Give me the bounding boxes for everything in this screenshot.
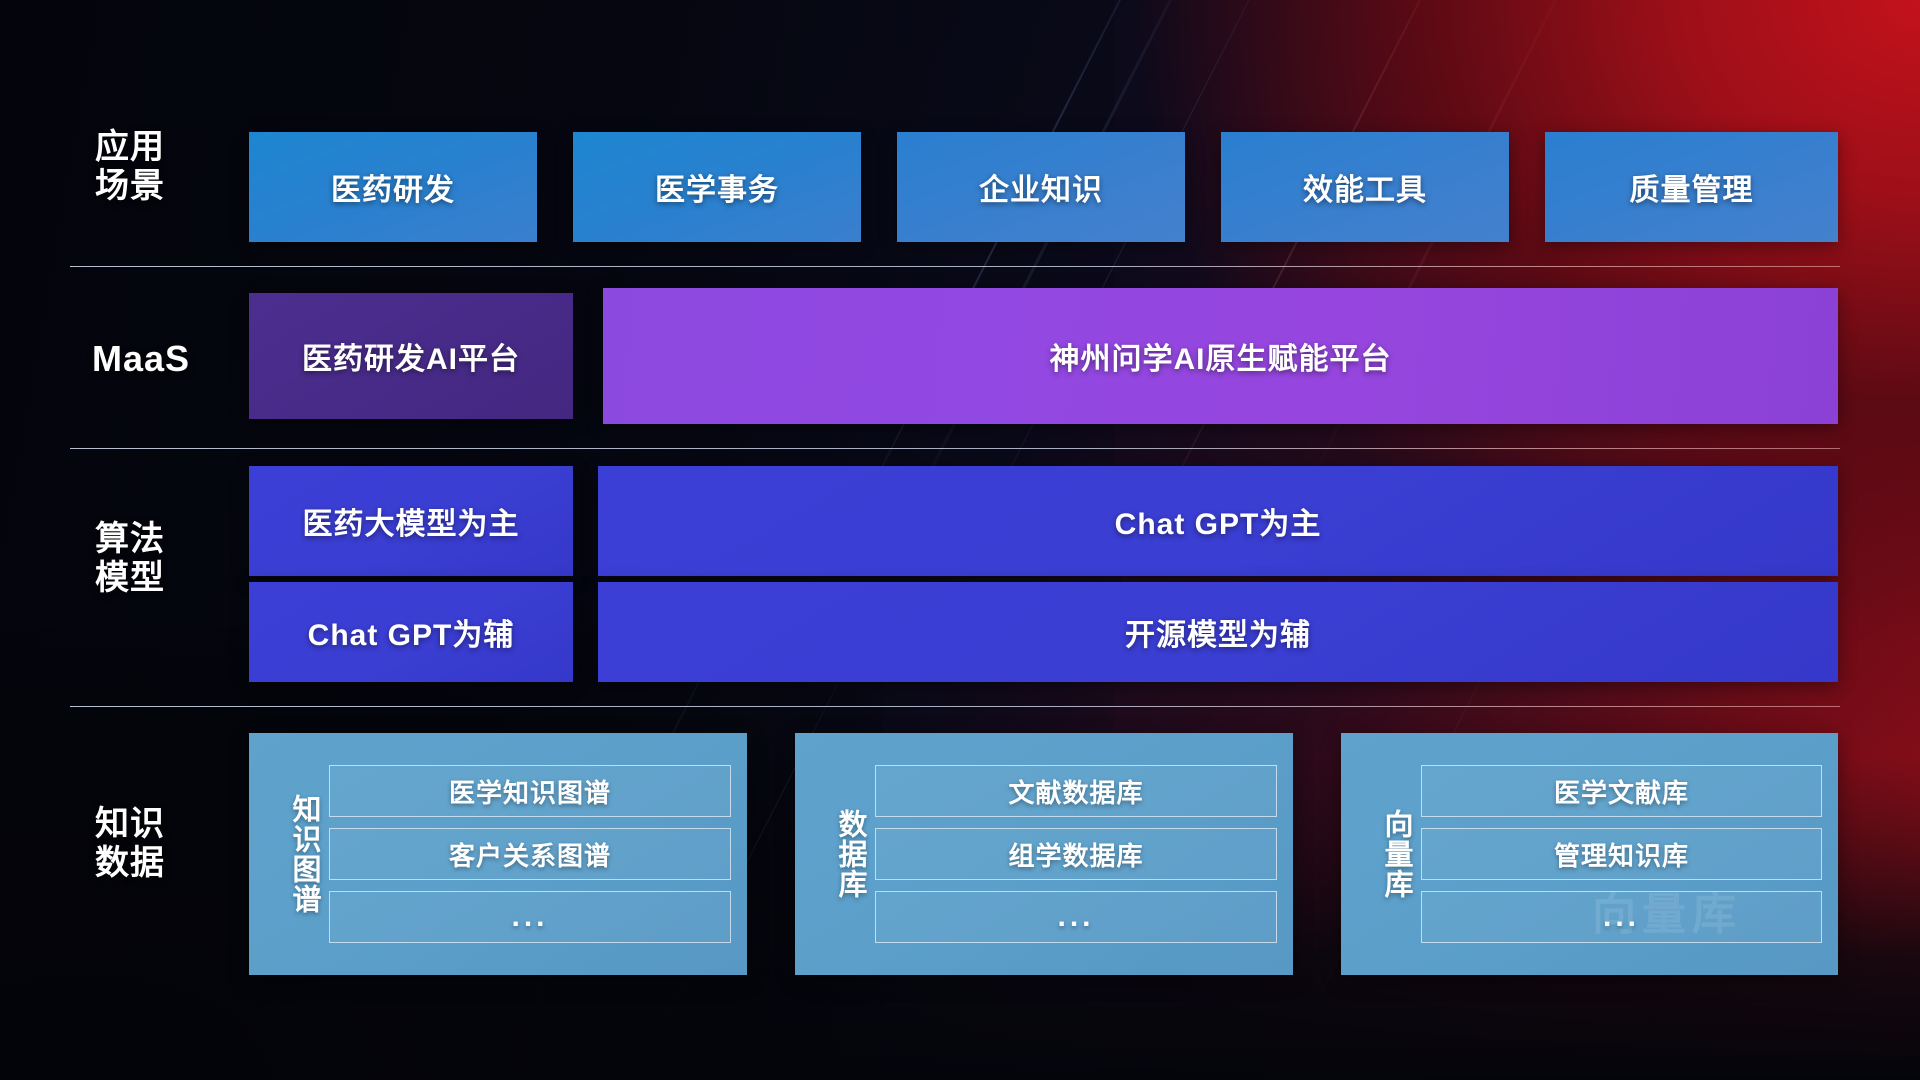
algo-box-chatgpt-primary[interactable]: Chat GPT为主	[598, 466, 1838, 576]
app-box-2[interactable]: 医学事务	[573, 132, 861, 242]
knowledge-item[interactable]: ...	[329, 891, 731, 943]
row-label-application-scenario: 应用 场景	[95, 128, 235, 207]
knowledge-item[interactable]: ...	[1421, 891, 1822, 943]
maas-box-drug-platform[interactable]: 医药研发AI平台	[249, 293, 573, 419]
divider-2	[70, 448, 1840, 449]
knowledge-panel-vector: 向量库 医学文献库 管理知识库 ...	[1341, 733, 1838, 975]
knowledge-panel-database-title: 数据库	[811, 747, 867, 961]
knowledge-item[interactable]: 客户关系图谱	[329, 828, 731, 880]
algo-box-drug-model-primary[interactable]: 医药大模型为主	[249, 466, 573, 576]
knowledge-item[interactable]: ...	[875, 891, 1277, 943]
algo-box-opensource-secondary[interactable]: 开源模型为辅	[598, 582, 1838, 682]
algo-box-chatgpt-secondary[interactable]: Chat GPT为辅	[249, 582, 573, 682]
app-box-3[interactable]: 企业知识	[897, 132, 1185, 242]
knowledge-item[interactable]: 医学知识图谱	[329, 765, 731, 817]
knowledge-item[interactable]: 文献数据库	[875, 765, 1277, 817]
maas-box-shenzhou-platform[interactable]: 神州问学AI原生赋能平台	[603, 288, 1838, 424]
knowledge-panel-graph-title: 知识图谱	[265, 747, 321, 961]
app-box-5[interactable]: 质量管理	[1545, 132, 1838, 242]
row-label-maas: MaaS	[92, 338, 252, 380]
knowledge-panel-vector-title: 向量库	[1357, 747, 1413, 961]
knowledge-item[interactable]: 组学数据库	[875, 828, 1277, 880]
app-box-4[interactable]: 效能工具	[1221, 132, 1509, 242]
divider-3	[70, 706, 1840, 707]
row-label-algorithm-model: 算法 模型	[95, 520, 245, 599]
knowledge-panel-database-items: 文献数据库 组学数据库 ...	[875, 765, 1277, 943]
knowledge-item[interactable]: 医学文献库	[1421, 765, 1822, 817]
app-box-1[interactable]: 医药研发	[249, 132, 537, 242]
knowledge-item[interactable]: 管理知识库	[1421, 828, 1822, 880]
knowledge-panel-graph-items: 医学知识图谱 客户关系图谱 ...	[329, 765, 731, 943]
row-label-knowledge-data: 知识 数据	[95, 805, 245, 884]
knowledge-panel-vector-items: 医学文献库 管理知识库 ...	[1421, 765, 1822, 943]
divider-1	[70, 266, 1840, 267]
architecture-diagram: 应用 场景 医药研发 医学事务 企业知识 效能工具 质量管理 MaaS 医药研发…	[0, 0, 1920, 1080]
knowledge-panel-database: 数据库 文献数据库 组学数据库 ...	[795, 733, 1293, 975]
knowledge-panel-graph: 知识图谱 医学知识图谱 客户关系图谱 ...	[249, 733, 747, 975]
